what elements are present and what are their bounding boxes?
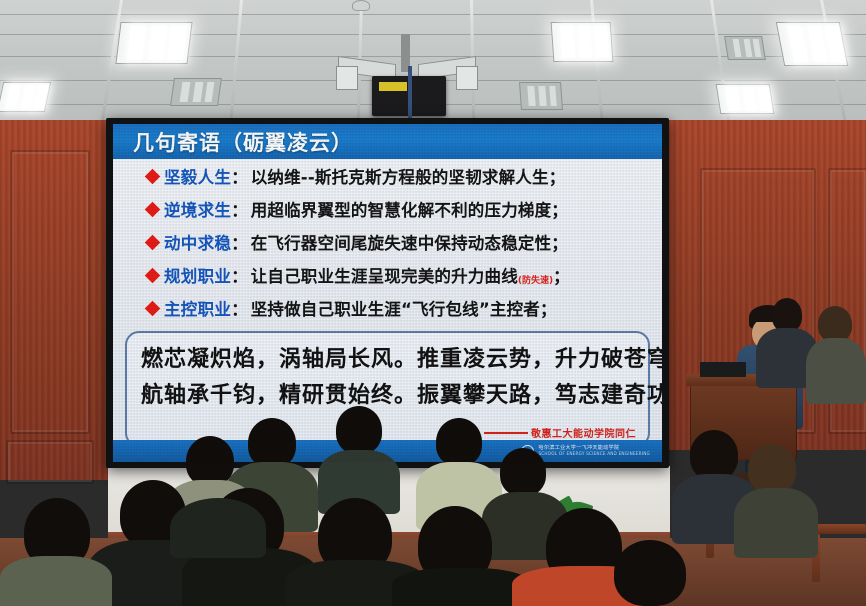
audience-head [818,306,852,342]
diamond-bullet-icon [145,301,161,317]
audience-body-front [0,556,112,606]
ceiling-light-panel [716,84,775,114]
audience-head [336,406,382,454]
led-wall-screen[interactable]: 几句寄语（砺翼凌云） 坚毅人生 ： 以纳维--斯托克斯方程般的坚韧求解人生； 逆… [113,124,662,462]
bullet-item: 主控职业 ： 坚持做自己职业生涯“飞行包线”主控者； [147,296,652,329]
smoke-detector [352,0,370,11]
quote-line-1: 燃芯凝炽焰，涡轴局长风。推重凌云势，升力破苍穹 [141,333,648,373]
diamond-bullet-icon [145,235,161,251]
bullet-colon: ： [231,230,248,254]
wood-panel-left-lower [6,440,94,484]
quote-signature: 敬惠工大能动学院同仁 [531,425,636,440]
audience-body-front [392,568,532,606]
bullet-text: 以纳维--斯托克斯方程般的坚韧求解人生； [251,164,566,188]
projector-warning-label [379,82,407,91]
audience-head-front [614,540,686,606]
bullet-key: 规划职业 [164,263,231,287]
diamond-bullet-icon [145,169,161,185]
diamond-bullet-icon [145,268,161,284]
ceiling [0,0,866,128]
ceiling-light-panel [776,22,849,66]
bullet-item: 规划职业 ： 让自己职业生涯呈现完美的升力曲线 (防失速) ； [147,263,652,296]
projector-speaker-right [456,66,478,90]
lectern-laptop[interactable] [700,362,746,377]
ceiling-rail [590,0,604,128]
audience-head [748,444,796,494]
ceiling-air-vent [724,36,766,60]
bullet-key: 坚毅人生 [164,164,231,188]
audience-body [806,338,866,404]
bullet-colon: ： [231,164,248,188]
bullet-key: 逆境求生 [164,197,231,221]
projector-cable [408,66,412,118]
presentation-slide: 几句寄语（砺翼凌云） 坚毅人生 ： 以纳维--斯托克斯方程般的坚韧求解人生； 逆… [113,124,662,462]
bullet-text: 用超临界翼型的智慧化解不利的压力梯度； [251,197,568,221]
ceiling-air-vent [519,82,563,110]
audience-head [690,430,738,480]
ceiling-light-panel [551,22,614,62]
ceiling-air-vent [170,78,222,106]
projector-speaker-left [336,66,358,90]
bullet-tail: ； [553,263,570,287]
ceiling-light-panel [0,82,51,112]
audience-hood [170,498,266,558]
bullet-text: 坚持做自己职业生涯“飞行包线”主控者； [251,296,557,320]
audience-head [500,448,546,496]
led-wall-screen-bezel: 几句寄语（砺翼凌云） 坚毅人生 ： 以纳维--斯托克斯方程般的坚韧求解人生； 逆… [106,118,669,468]
bullet-colon: ： [231,296,248,320]
audience-head [436,418,482,466]
bullet-text: 让自己职业生涯呈现完美的升力曲线 [251,263,518,287]
lecture-hall-scene: 几句寄语（砺翼凌云） 坚毅人生 ： 以纳维--斯托克斯方程般的坚韧求解人生； 逆… [0,0,866,606]
bullet-item: 逆境求生 ： 用超临界翼型的智慧化解不利的压力梯度； [147,197,652,230]
bullet-colon: ： [231,263,248,287]
audience-head [248,418,296,468]
slide-title: 几句寄语（砺翼凌云） [133,127,353,157]
audience-head [186,436,234,486]
slide-quote-box: 燃芯凝炽焰，涡轴局长风。推重凌云势，升力破苍穹 航轴承千钧，精研贯始终。振翼攀天… [125,331,650,447]
audience-head [772,298,802,332]
wood-panel-left [10,150,90,434]
bullet-item: 动中求稳 ： 在飞行器空间尾旋失速中保持动态稳定性； [147,230,652,263]
ceiling-rail [229,0,243,128]
bullet-annotation-note: (防失速) [518,273,553,286]
quote-signature-group: 敬惠工大能动学院同仁 [484,425,636,440]
ceiling-light-panel [115,22,192,64]
slide-bullet-list: 坚毅人生 ： 以纳维--斯托克斯方程般的坚韧求解人生； 逆境求生 ： 用超临界翼… [147,164,652,329]
audience-body [734,488,818,558]
bullet-key: 动中求稳 [164,230,231,254]
institution-logo: 哈尔滨工业大学一飞冲天能动学院 SCHOOL OF ENERGY SCIENCE… [521,445,650,458]
bullet-key: 主控职业 [164,296,231,320]
signature-rule [484,432,528,434]
institution-logo-text: 哈尔滨工业大学一飞冲天能动学院 SCHOOL OF ENERGY SCIENCE… [538,445,650,457]
bullet-colon: ： [231,197,248,221]
diamond-bullet-icon [145,202,161,218]
logo-sub: SCHOOL OF ENERGY SCIENCE AND ENGINEERING [538,451,650,456]
slide-title-bar: 几句寄语（砺翼凌云） [113,124,662,159]
ceiling-rail [99,0,123,128]
quote-line-2: 航轴承千钧，精研贯始终。振翼攀天路，笃志建奇功 [141,373,648,409]
bullet-text: 在飞行器空间尾旋失速中保持动态稳定性； [251,230,568,254]
bullet-item: 坚毅人生 ： 以纳维--斯托克斯方程般的坚韧求解人生； [147,164,652,197]
